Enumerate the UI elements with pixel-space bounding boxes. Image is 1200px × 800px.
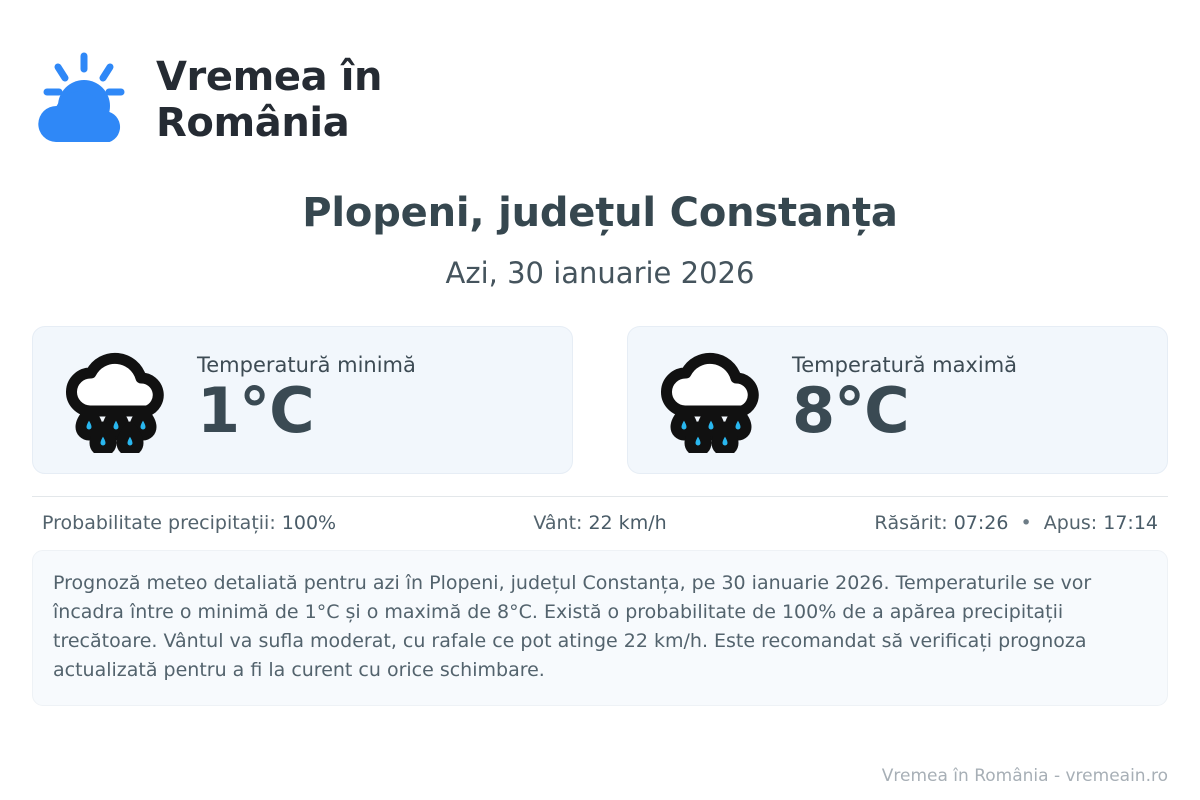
card-temperature-max: Temperatură maximă 8°C (627, 326, 1168, 474)
wind-value: 22 km/h (588, 512, 666, 534)
precipitation-value: 100% (282, 512, 336, 534)
sunrise-value: 07:26 (954, 512, 1009, 534)
page-date: Azi, 30 ianuarie 2026 (32, 256, 1168, 290)
stat-precipitation: Probabilitate precipitații: 100% (42, 512, 414, 534)
card-value-min: 1°C (197, 378, 416, 444)
sunrise-label: Răsărit: (874, 512, 947, 534)
stat-wind: Vânt: 22 km/h (414, 512, 786, 534)
footer-credit: Vremea în România - vremeain.ro (882, 766, 1168, 786)
weather-page: Vremea în România Plopeni, județul Const… (0, 0, 1200, 800)
sunset-label: Apus: (1044, 512, 1097, 534)
card-value-max: 8°C (792, 378, 1017, 444)
rain-cloud-icon (654, 347, 770, 453)
card-temperature-min: Temperatură minimă 1°C (32, 326, 573, 474)
forecast-description: Prognoză meteo detaliată pentru azi în P… (32, 550, 1168, 706)
temperature-cards: Temperatură minimă 1°C Temperatură maxim… (32, 326, 1168, 474)
precipitation-label: Probabilitate precipitații: (42, 512, 276, 534)
bullet-separator-icon: • (1015, 512, 1038, 534)
card-text-max: Temperatură maximă 8°C (792, 352, 1017, 448)
brand-title: Vremea în România (156, 54, 382, 146)
sunset-value: 17:14 (1103, 512, 1158, 534)
rain-cloud-icon (59, 347, 175, 453)
card-text-min: Temperatură minimă 1°C (197, 352, 416, 448)
weather-stats-row: Probabilitate precipitații: 100% Vânt: 2… (32, 497, 1168, 534)
page-title: Plopeni, județul Constanța (32, 190, 1168, 236)
brand-header: Vremea în România (32, 0, 1168, 152)
stat-sun-times: Răsărit: 07:26 • Apus: 17:14 (786, 512, 1158, 534)
sun-cloud-icon (32, 50, 138, 150)
wind-label: Vânt: (533, 512, 582, 534)
